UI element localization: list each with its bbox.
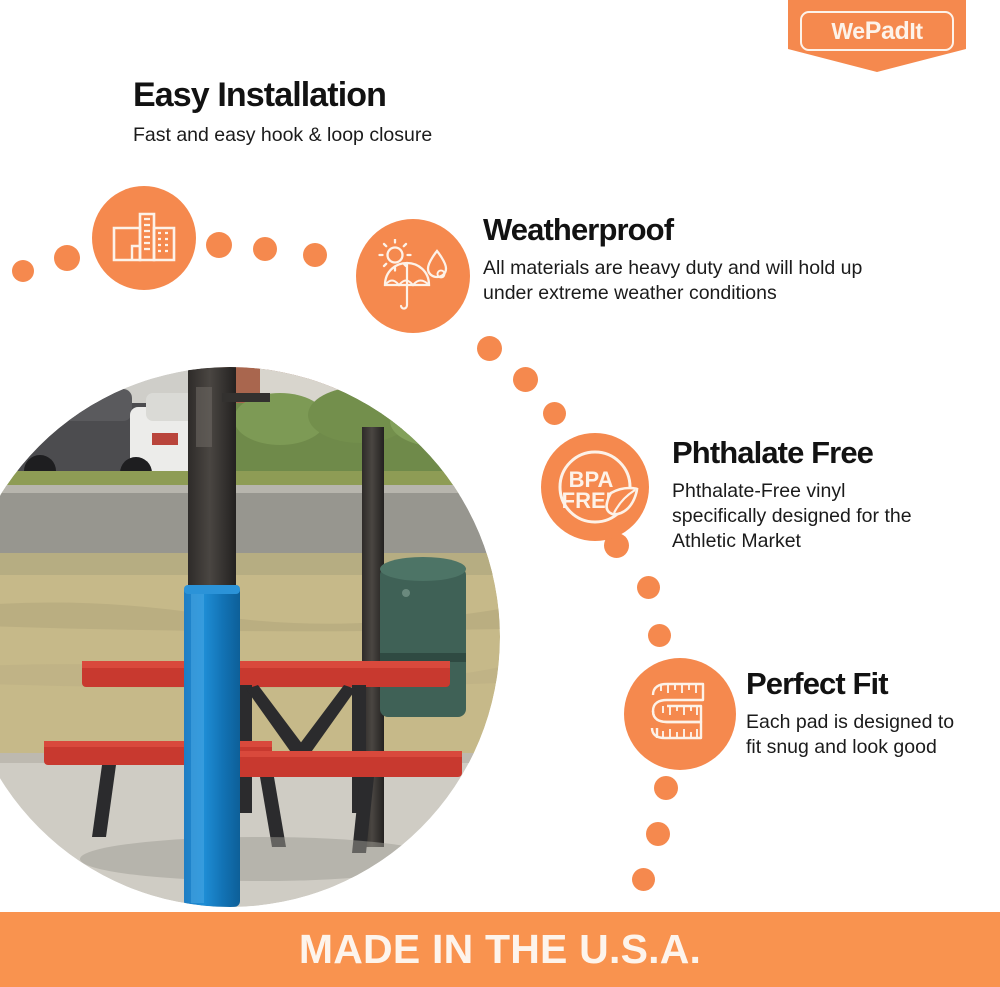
logo-wordmark: WePadIt [831, 19, 922, 44]
logo-word-pad: Pad [865, 17, 910, 45]
logo-word-it: It [909, 18, 922, 44]
path-dot [648, 624, 671, 647]
banner-label: MADE IN THE U.S.A. [299, 929, 701, 970]
feature-description: All materials are heavy duty and will ho… [483, 256, 913, 307]
feature-description: Phthalate-Free vinyl specifically design… [672, 479, 934, 555]
path-dot [632, 868, 655, 891]
made-in-usa-banner: MADE IN THE U.S.A. [0, 912, 1000, 987]
measuring-tape-icon [624, 658, 736, 770]
path-dot [12, 260, 34, 282]
feature-title: Weatherproof [483, 214, 913, 247]
path-dot [303, 243, 327, 267]
product-feature-infographic: WePadIt [0, 0, 1000, 987]
path-dot [477, 336, 502, 361]
feature-title: Easy Installation [133, 78, 432, 114]
building-installation-icon [92, 186, 196, 290]
path-dot [654, 776, 678, 800]
feature-easy-installation: Easy Installation Fast and easy hook & l… [133, 78, 432, 148]
path-dot [54, 245, 80, 271]
bpa-free-leaf-icon: BPA FREE [541, 433, 649, 541]
brand-logo-badge[interactable]: WePadIt [788, 0, 966, 72]
feature-phthalate-free: Phthalate Free Phthalate-Free vinyl spec… [672, 437, 934, 555]
feature-description: Fast and easy hook & loop closure [133, 123, 432, 148]
feature-title: Phthalate Free [672, 437, 934, 470]
sun-umbrella-raindrop-icon [356, 219, 470, 333]
feature-description: Each pad is designed to fit snug and loo… [746, 710, 972, 761]
path-dot [206, 232, 232, 258]
path-dot [513, 367, 538, 392]
path-dot [646, 822, 670, 846]
path-dot [543, 402, 566, 425]
path-dot [637, 576, 660, 599]
logo-word-we: We [831, 18, 864, 44]
blue-pole-pad-product-photo [0, 367, 500, 907]
path-dot [253, 237, 277, 261]
feature-perfect-fit: Perfect Fit Each pad is designed to fit … [746, 668, 972, 760]
feature-title: Perfect Fit [746, 668, 972, 701]
feature-weatherproof: Weatherproof All materials are heavy dut… [483, 214, 913, 306]
logo-outline-box: WePadIt [800, 11, 954, 51]
